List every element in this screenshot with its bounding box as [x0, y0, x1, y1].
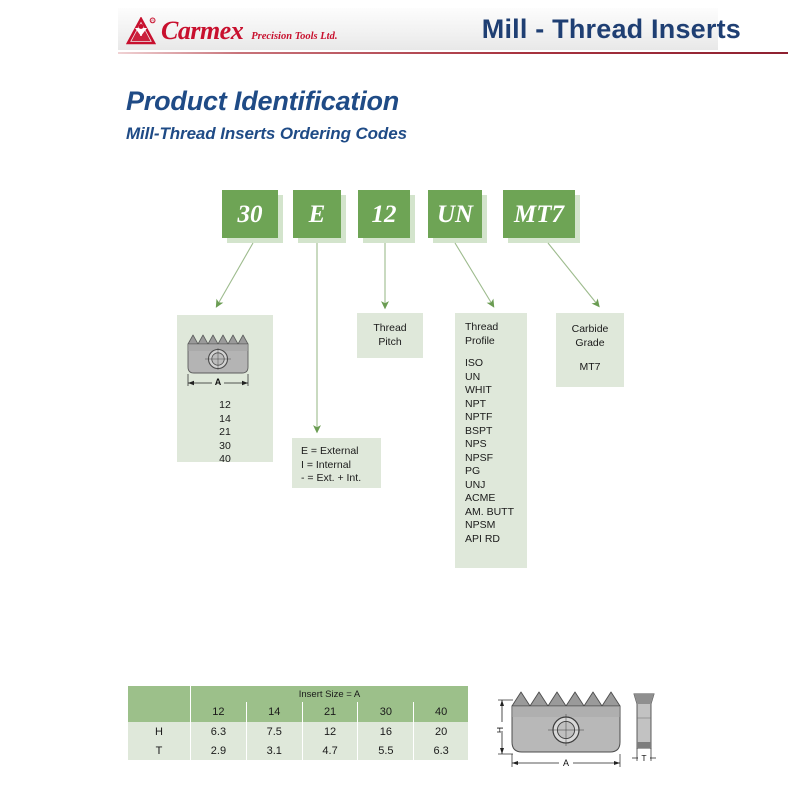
code-box-thread-pitch[interactable]: 12: [358, 190, 410, 238]
table-cell: 12: [302, 722, 358, 741]
insert-size-value: 21: [177, 426, 273, 440]
logo-tagline: Precision Tools Ltd.: [251, 31, 337, 42]
panel-thread-pitch: Thread Pitch: [357, 313, 423, 358]
dimension-table: Insert Size = A 12 14 21 30 40 H 6.3 7.5…: [128, 686, 468, 760]
insert-size-value: 14: [177, 413, 273, 427]
code-box-carbide-grade[interactable]: MT7: [503, 190, 575, 238]
thread-pitch-line1: Thread: [373, 322, 406, 336]
thread-profile-value: ACME: [465, 492, 527, 506]
thread-pitch-line2: Pitch: [373, 336, 406, 350]
table-cell: 3.1: [246, 741, 302, 760]
table-cell: 7.5: [246, 722, 302, 741]
table-col-header: 12: [191, 702, 247, 722]
table-row-label: H: [128, 722, 191, 741]
thread-profile-value: WHIT: [465, 384, 527, 398]
table-cell: 20: [414, 722, 468, 741]
code-box-thread-profile[interactable]: UN: [428, 190, 482, 238]
table-col-header: 14: [246, 702, 302, 722]
side-view-diagram: T: [632, 694, 656, 763]
document-page: R Carmex Precision Tools Ltd. Mill - Thr…: [0, 0, 789, 789]
table-corner-cell: [128, 686, 191, 702]
code-box-carbide-grade-label: MT7: [514, 202, 564, 227]
code-box-direction-label: E: [309, 202, 326, 227]
carbide-grade-value: MT7: [556, 361, 624, 375]
page-header: R Carmex Precision Tools Ltd. Mill - Thr…: [0, 0, 789, 58]
connector-lines: [0, 0, 789, 789]
carbide-grade-line2: Grade: [556, 337, 624, 351]
table-cell: 6.3: [414, 741, 468, 760]
insert-size-diagram-icon: A: [177, 315, 273, 395]
table-col-header: 30: [358, 702, 414, 722]
panel-direction: E = External I = Internal - = Ext. + Int…: [292, 438, 381, 488]
carmex-triangle-logo-icon: R: [126, 17, 156, 45]
thread-pitch-heading: Thread Pitch: [373, 322, 406, 349]
thread-profile-value: UNJ: [465, 479, 527, 493]
direction-both: - = Ext. + Int.: [301, 472, 381, 486]
table-col-header: 40: [414, 702, 468, 722]
table-col-header: 21: [302, 702, 358, 722]
direction-external: E = External: [301, 445, 381, 459]
insert-size-value: 40: [177, 453, 273, 467]
thread-profile-value: AM. BUTT: [465, 506, 527, 520]
front-view-width-label: A: [563, 758, 569, 768]
carmex-logo: R Carmex Precision Tools Ltd.: [126, 17, 337, 45]
thread-profile-value: NPSF: [465, 452, 527, 466]
panel-carbide-grade: Carbide Grade MT7: [556, 313, 624, 387]
insert-size-value-list: 12 14 21 30 40: [177, 399, 273, 467]
table-corner-cell-2: [128, 702, 191, 722]
carbide-grade-line1: Carbide: [556, 323, 624, 337]
thread-profile-line1: Thread: [465, 321, 527, 335]
table-span-header: Insert Size = A: [191, 686, 469, 702]
table-cell: 4.7: [302, 741, 358, 760]
code-box-thread-profile-label: UN: [437, 202, 473, 227]
insert-size-value: 30: [177, 440, 273, 454]
thread-profile-value: NPTF: [465, 411, 527, 425]
table-cell: 6.3: [191, 722, 247, 741]
code-box-insert-size-label: 30: [238, 202, 263, 227]
thread-profile-value: ISO: [465, 357, 527, 371]
page-title: Mill - Thread Inserts: [482, 14, 741, 45]
table-row: T 2.9 3.1 4.7 5.5 6.3: [128, 741, 468, 760]
thread-profile-value: BSPT: [465, 425, 527, 439]
table-cell: 5.5: [358, 741, 414, 760]
code-box-insert-size[interactable]: 30: [222, 190, 278, 238]
thread-profile-heading: Thread Profile: [465, 321, 527, 348]
table-row-label: T: [128, 741, 191, 760]
section-heading: Product Identification: [126, 86, 399, 117]
panel-thread-profile: Thread Profile ISO UN WHIT NPT NPTF BSPT…: [455, 313, 527, 568]
direction-legend: E = External I = Internal - = Ext. + Int…: [301, 445, 381, 486]
thread-profile-value: UN: [465, 371, 527, 385]
table-cell: 16: [358, 722, 414, 741]
thread-profile-value-list: ISO UN WHIT NPT NPTF BSPT NPS NPSF PG UN…: [465, 357, 527, 546]
front-view-height-label: H: [495, 727, 505, 733]
code-box-direction[interactable]: E: [293, 190, 341, 238]
side-view-thickness-label: T: [641, 753, 646, 763]
table-cell: 2.9: [191, 741, 247, 760]
thread-profile-value: PG: [465, 465, 527, 479]
insert-technical-drawings: H A T: [484, 684, 664, 774]
thread-profile-line2: Profile: [465, 335, 527, 349]
insert-dimension-a-label: A: [215, 377, 222, 387]
carbide-grade-heading: Carbide Grade: [556, 323, 624, 350]
thread-profile-value: NPT: [465, 398, 527, 412]
header-divider: [118, 52, 788, 54]
table-row: H 6.3 7.5 12 16 20: [128, 722, 468, 741]
logo-brand-name: Carmex: [161, 18, 243, 44]
thread-profile-value: API RD: [465, 533, 527, 547]
panel-insert-size: A 12 14 21 30 40: [177, 315, 273, 462]
thread-profile-value: NPSM: [465, 519, 527, 533]
section-subheading: Mill-Thread Inserts Ordering Codes: [126, 124, 407, 144]
front-view-diagram: H A: [495, 692, 620, 768]
direction-internal: I = Internal: [301, 459, 381, 473]
table-span-header-row: Insert Size = A: [128, 686, 468, 702]
insert-size-value: 12: [177, 399, 273, 413]
table-column-header-row: 12 14 21 30 40: [128, 702, 468, 722]
thread-profile-value: NPS: [465, 438, 527, 452]
code-box-thread-pitch-label: 12: [372, 202, 397, 227]
